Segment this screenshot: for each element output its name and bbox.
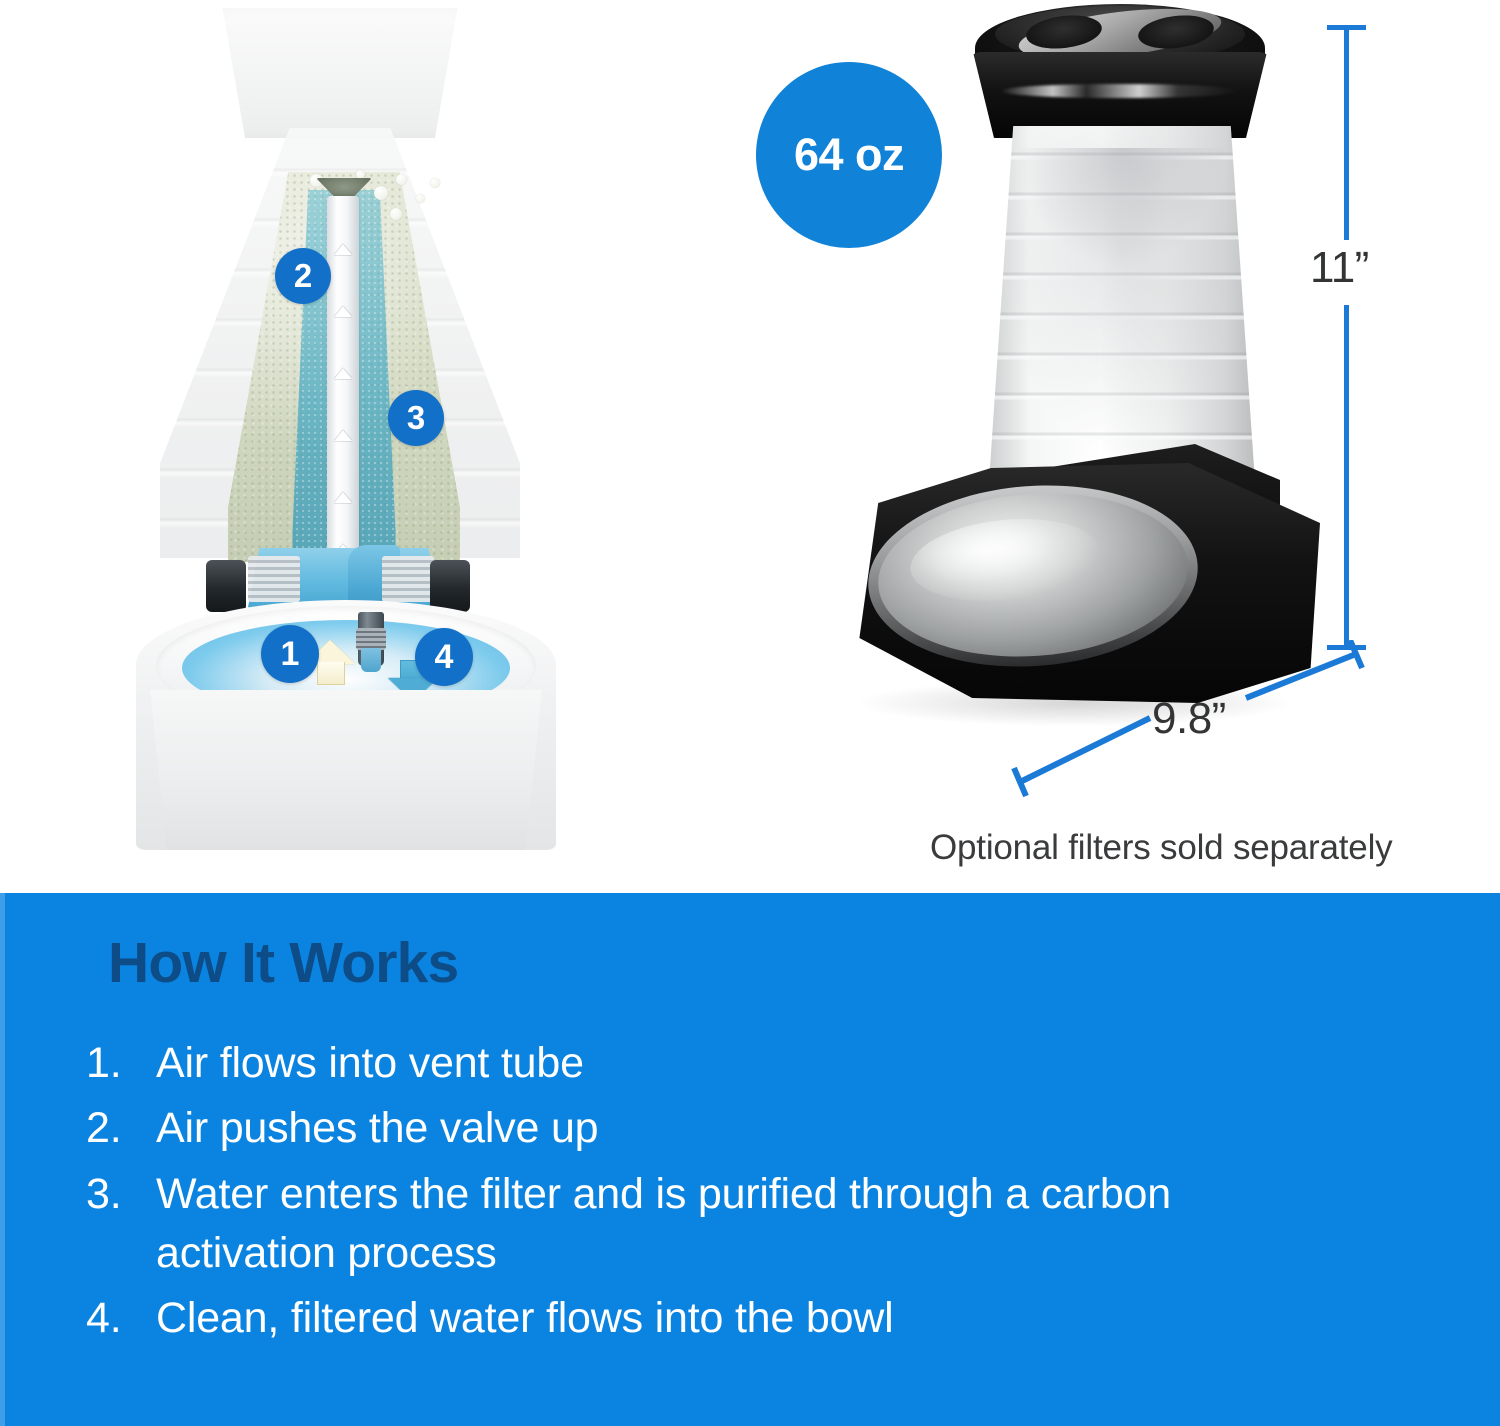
step-3-number: 3.: [86, 1165, 156, 1224]
reservoir-front: [142, 690, 550, 850]
width-dimension-label: 9.8”: [1152, 694, 1226, 744]
how-it-works-step-1: 1. Air flows into vent tube: [86, 1034, 1426, 1093]
callout-badge-4: 4: [415, 628, 473, 686]
step-1-number: 1.: [86, 1034, 156, 1093]
capacity-badge-label: 64 oz: [794, 129, 904, 181]
callout-badge-3: 3: [388, 390, 444, 446]
filter-seat-left: [248, 556, 300, 602]
step-1-text: Air flows into vent tube: [156, 1034, 1316, 1093]
callout-badge-4-label: 4: [435, 638, 454, 677]
spout-tip: [361, 648, 381, 672]
filter-seat-right: [382, 556, 434, 602]
lid-highlight: [1000, 84, 1240, 98]
how-it-works-step-3: 3. Water enters the filter and is purifi…: [86, 1165, 1426, 1284]
height-dimension-line-upper: [1344, 25, 1349, 240]
how-it-works-title: How It Works: [108, 930, 458, 996]
retaining-clip-left: [206, 560, 246, 612]
optional-filters-caption: Optional filters sold separately: [930, 828, 1392, 868]
top-image-area: 2 3 1 4 64 oz 11”: [0, 0, 1500, 893]
step-4-number: 4.: [86, 1289, 156, 1348]
step-3-text: Water enters the filter and is purified …: [156, 1165, 1316, 1284]
cutaway-diagram: 2 3 1 4: [120, 0, 590, 850]
callout-badge-2-label: 2: [294, 257, 312, 295]
spout-threads: [356, 628, 386, 650]
capacity-badge: 64 oz: [756, 62, 942, 248]
how-it-works-list: 1. Air flows into vent tube 2. Air pushe…: [86, 1034, 1426, 1355]
callout-badge-3-label: 3: [407, 399, 425, 437]
step-2-text: Air pushes the valve up: [156, 1099, 1316, 1158]
how-it-works-step-4: 4. Clean, filtered water flows into the …: [86, 1289, 1426, 1348]
step-4-text: Clean, filtered water flows into the bow…: [156, 1289, 1316, 1348]
vent-tube: [327, 196, 359, 568]
bottle-neck-shading: [1016, 148, 1228, 268]
callout-badge-2: 2: [275, 248, 331, 304]
retaining-clip-right: [430, 560, 470, 612]
callout-badge-1: 1: [261, 625, 319, 683]
callout-badge-1-label: 1: [281, 635, 300, 674]
step-2-number: 2.: [86, 1099, 156, 1158]
bottle-top-section: [215, 8, 465, 138]
how-it-works-step-2: 2. Air pushes the valve up: [86, 1099, 1426, 1158]
band-left-edge-accent: [0, 893, 5, 1426]
height-dimension-line-lower: [1344, 305, 1349, 650]
height-dimension-label: 11”: [1310, 243, 1400, 293]
